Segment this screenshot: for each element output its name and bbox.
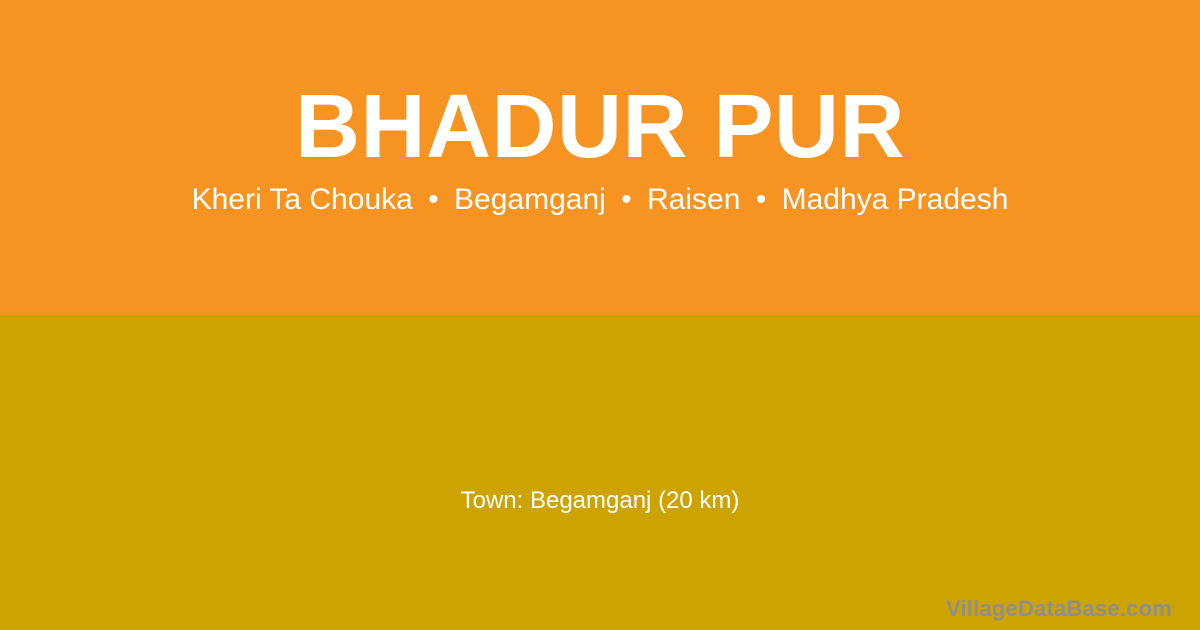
breadcrumb-separator-icon: •: [421, 181, 446, 219]
village-info-card: BHADUR PUR Kheri Ta Chouka • Begamganj •…: [0, 0, 1200, 630]
breadcrumb-separator-icon: •: [749, 181, 774, 219]
page-title: BHADUR PUR: [0, 77, 1200, 177]
nearest-town-detail: Town: Begamganj (20 km): [0, 486, 1200, 516]
nearest-town-value: Begamganj: [530, 487, 651, 514]
body-band: Town: Begamganj (20 km) VillageDataBase.…: [0, 315, 1200, 630]
breadcrumb-item-block: Begamganj: [454, 183, 606, 216]
breadcrumb-item-district: Raisen: [647, 183, 740, 216]
breadcrumb-separator-icon: •: [614, 181, 639, 219]
nearest-town-label: Town:: [461, 487, 524, 514]
nearest-town-distance: (20 km): [658, 487, 739, 514]
header-band: BHADUR PUR Kheri Ta Chouka • Begamganj •…: [0, 0, 1200, 315]
breadcrumb-item-village: Kheri Ta Chouka: [192, 183, 413, 216]
breadcrumb-item-state: Madhya Pradesh: [782, 183, 1009, 216]
site-watermark: VillageDataBase.com: [946, 596, 1172, 622]
breadcrumb: Kheri Ta Chouka • Begamganj • Raisen • M…: [0, 181, 1200, 219]
